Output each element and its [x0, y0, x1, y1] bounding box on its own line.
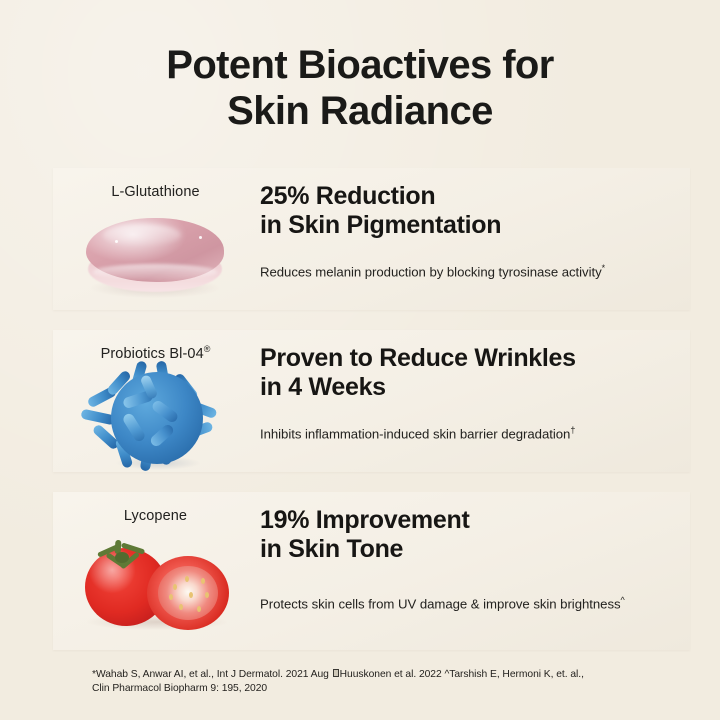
- headline-line-2: in Skin Pigmentation: [260, 211, 690, 240]
- headline-line-1: Proven to Reduce Wrinkles: [260, 344, 690, 373]
- missing-glyph-icon: [333, 669, 339, 677]
- blue-bacteria-cluster-icon: [53, 364, 258, 468]
- droplet-sparkle: [115, 240, 118, 243]
- footnote-line-2: Clin Pharmacol Biopharm 9: 195, 2020: [92, 683, 267, 694]
- benefit-description: Reduces melanin production by blocking t…: [260, 260, 700, 280]
- footnote-part-2: Huuskonen et al. 2022 ^Tarshish E, Hermo…: [340, 669, 584, 680]
- infographic-page: Potent Bioactives for Skin Radiance L-Gl…: [0, 0, 720, 720]
- tomato-seed: [197, 606, 201, 612]
- text-column: 19% Improvement in Skin Tone Protects sk…: [260, 492, 690, 650]
- tomato-seed: [179, 604, 183, 610]
- ingredient-column: L-Glutathione: [53, 168, 258, 310]
- tomato-stem-hub: [115, 552, 129, 563]
- ingredient-column: Probiotics Bl-04®: [53, 330, 258, 472]
- footnote-marker: *: [602, 263, 605, 273]
- text-column: 25% Reduction in Skin Pigmentation Reduc…: [260, 168, 690, 310]
- droplet-rim-light: [93, 264, 217, 280]
- headline-line-1: 25% Reduction: [260, 182, 690, 211]
- tomato-seed: [173, 584, 177, 590]
- title-line-1: Potent Bioactives for: [0, 42, 720, 88]
- tomato-seed: [205, 592, 209, 598]
- title-line-2: Skin Radiance: [0, 88, 720, 134]
- headline-line-2: in 4 Weeks: [260, 373, 690, 402]
- ingredient-name-label: L-Glutathione: [53, 182, 258, 200]
- ingredient-name-label: Lycopene: [53, 506, 258, 524]
- benefit-headline: 25% Reduction in Skin Pigmentation: [260, 182, 690, 240]
- ingredient-name-label: Probiotics Bl-04®: [53, 344, 258, 362]
- red-tomato-pair-icon: [53, 526, 258, 630]
- benefit-description: Inhibits inflammation-induced skin barri…: [260, 422, 700, 442]
- benefit-card-lycopene: Lycopene: [53, 492, 690, 650]
- benefit-description: Protects skin cells from UV damage & imp…: [260, 592, 700, 612]
- footnote-part-1: *Wahab S, Anwar AI, et al., Int J Dermat…: [92, 669, 332, 680]
- benefit-card-l-glutathione: L-Glutathione 25% Reduction: [53, 168, 690, 310]
- tomato-flesh: [158, 566, 218, 620]
- footnote-marker: †: [570, 425, 575, 435]
- headline-line-2: in Skin Tone: [260, 535, 690, 564]
- text-column: Proven to Reduce Wrinkles in 4 Weeks Inh…: [260, 330, 690, 472]
- registered-trademark-symbol: ®: [204, 344, 211, 354]
- tomato-seed: [169, 594, 173, 600]
- tomato-seed: [185, 576, 189, 582]
- pink-gel-droplet-icon: [53, 202, 258, 306]
- benefit-headline: 19% Improvement in Skin Tone: [260, 506, 690, 564]
- benefit-headline: Proven to Reduce Wrinkles in 4 Weeks: [260, 344, 690, 402]
- footnote-marker: ^: [621, 595, 625, 605]
- tomato-seed: [189, 592, 193, 598]
- page-title: Potent Bioactives for Skin Radiance: [0, 42, 720, 134]
- benefit-card-probiotics-bl-04: Probiotics Bl-04®: [53, 330, 690, 472]
- headline-line-1: 19% Improvement: [260, 506, 690, 535]
- droplet-sparkle: [199, 236, 202, 239]
- ingredient-column: Lycopene: [53, 492, 258, 650]
- tomato-seed: [201, 578, 205, 584]
- footnote-citations: *Wahab S, Anwar AI, et al., Int J Dermat…: [92, 668, 652, 696]
